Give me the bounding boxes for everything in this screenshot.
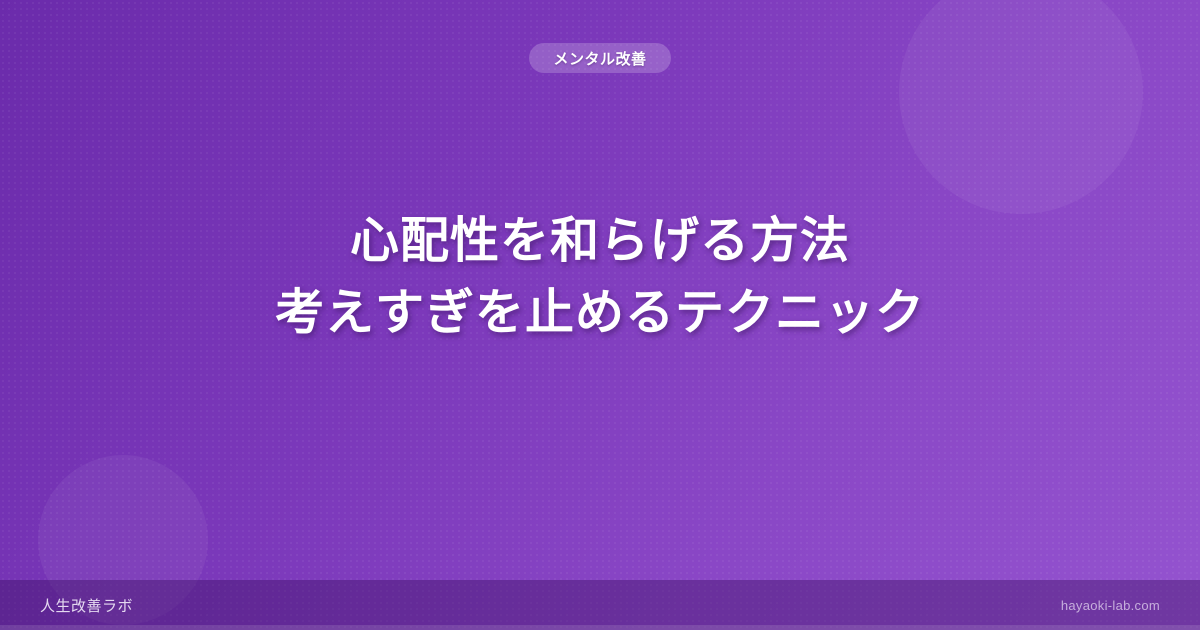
footer-brand-name: 人生改善ラボ (40, 595, 133, 616)
title-line-2: 考えすぎを止めるテクニック (70, 277, 1130, 349)
footer-site-url: hayaoki-lab.com (1061, 598, 1160, 613)
og-image-card: メンタル改善 心配性を和らげる方法 考えすぎを止めるテクニック 人生改善ラボ h… (0, 0, 1200, 630)
footer-accent-line (0, 625, 1200, 630)
title-line-1: 心配性を和らげる方法 (70, 205, 1130, 277)
category-badge-row: メンタル改善 (0, 43, 1200, 73)
decorative-circle-top-right (899, 0, 1143, 214)
page-title: 心配性を和らげる方法 考えすぎを止めるテクニック (0, 205, 1200, 349)
footer-bar: 人生改善ラボ hayaoki-lab.com (0, 580, 1200, 630)
category-badge: メンタル改善 (529, 43, 670, 73)
